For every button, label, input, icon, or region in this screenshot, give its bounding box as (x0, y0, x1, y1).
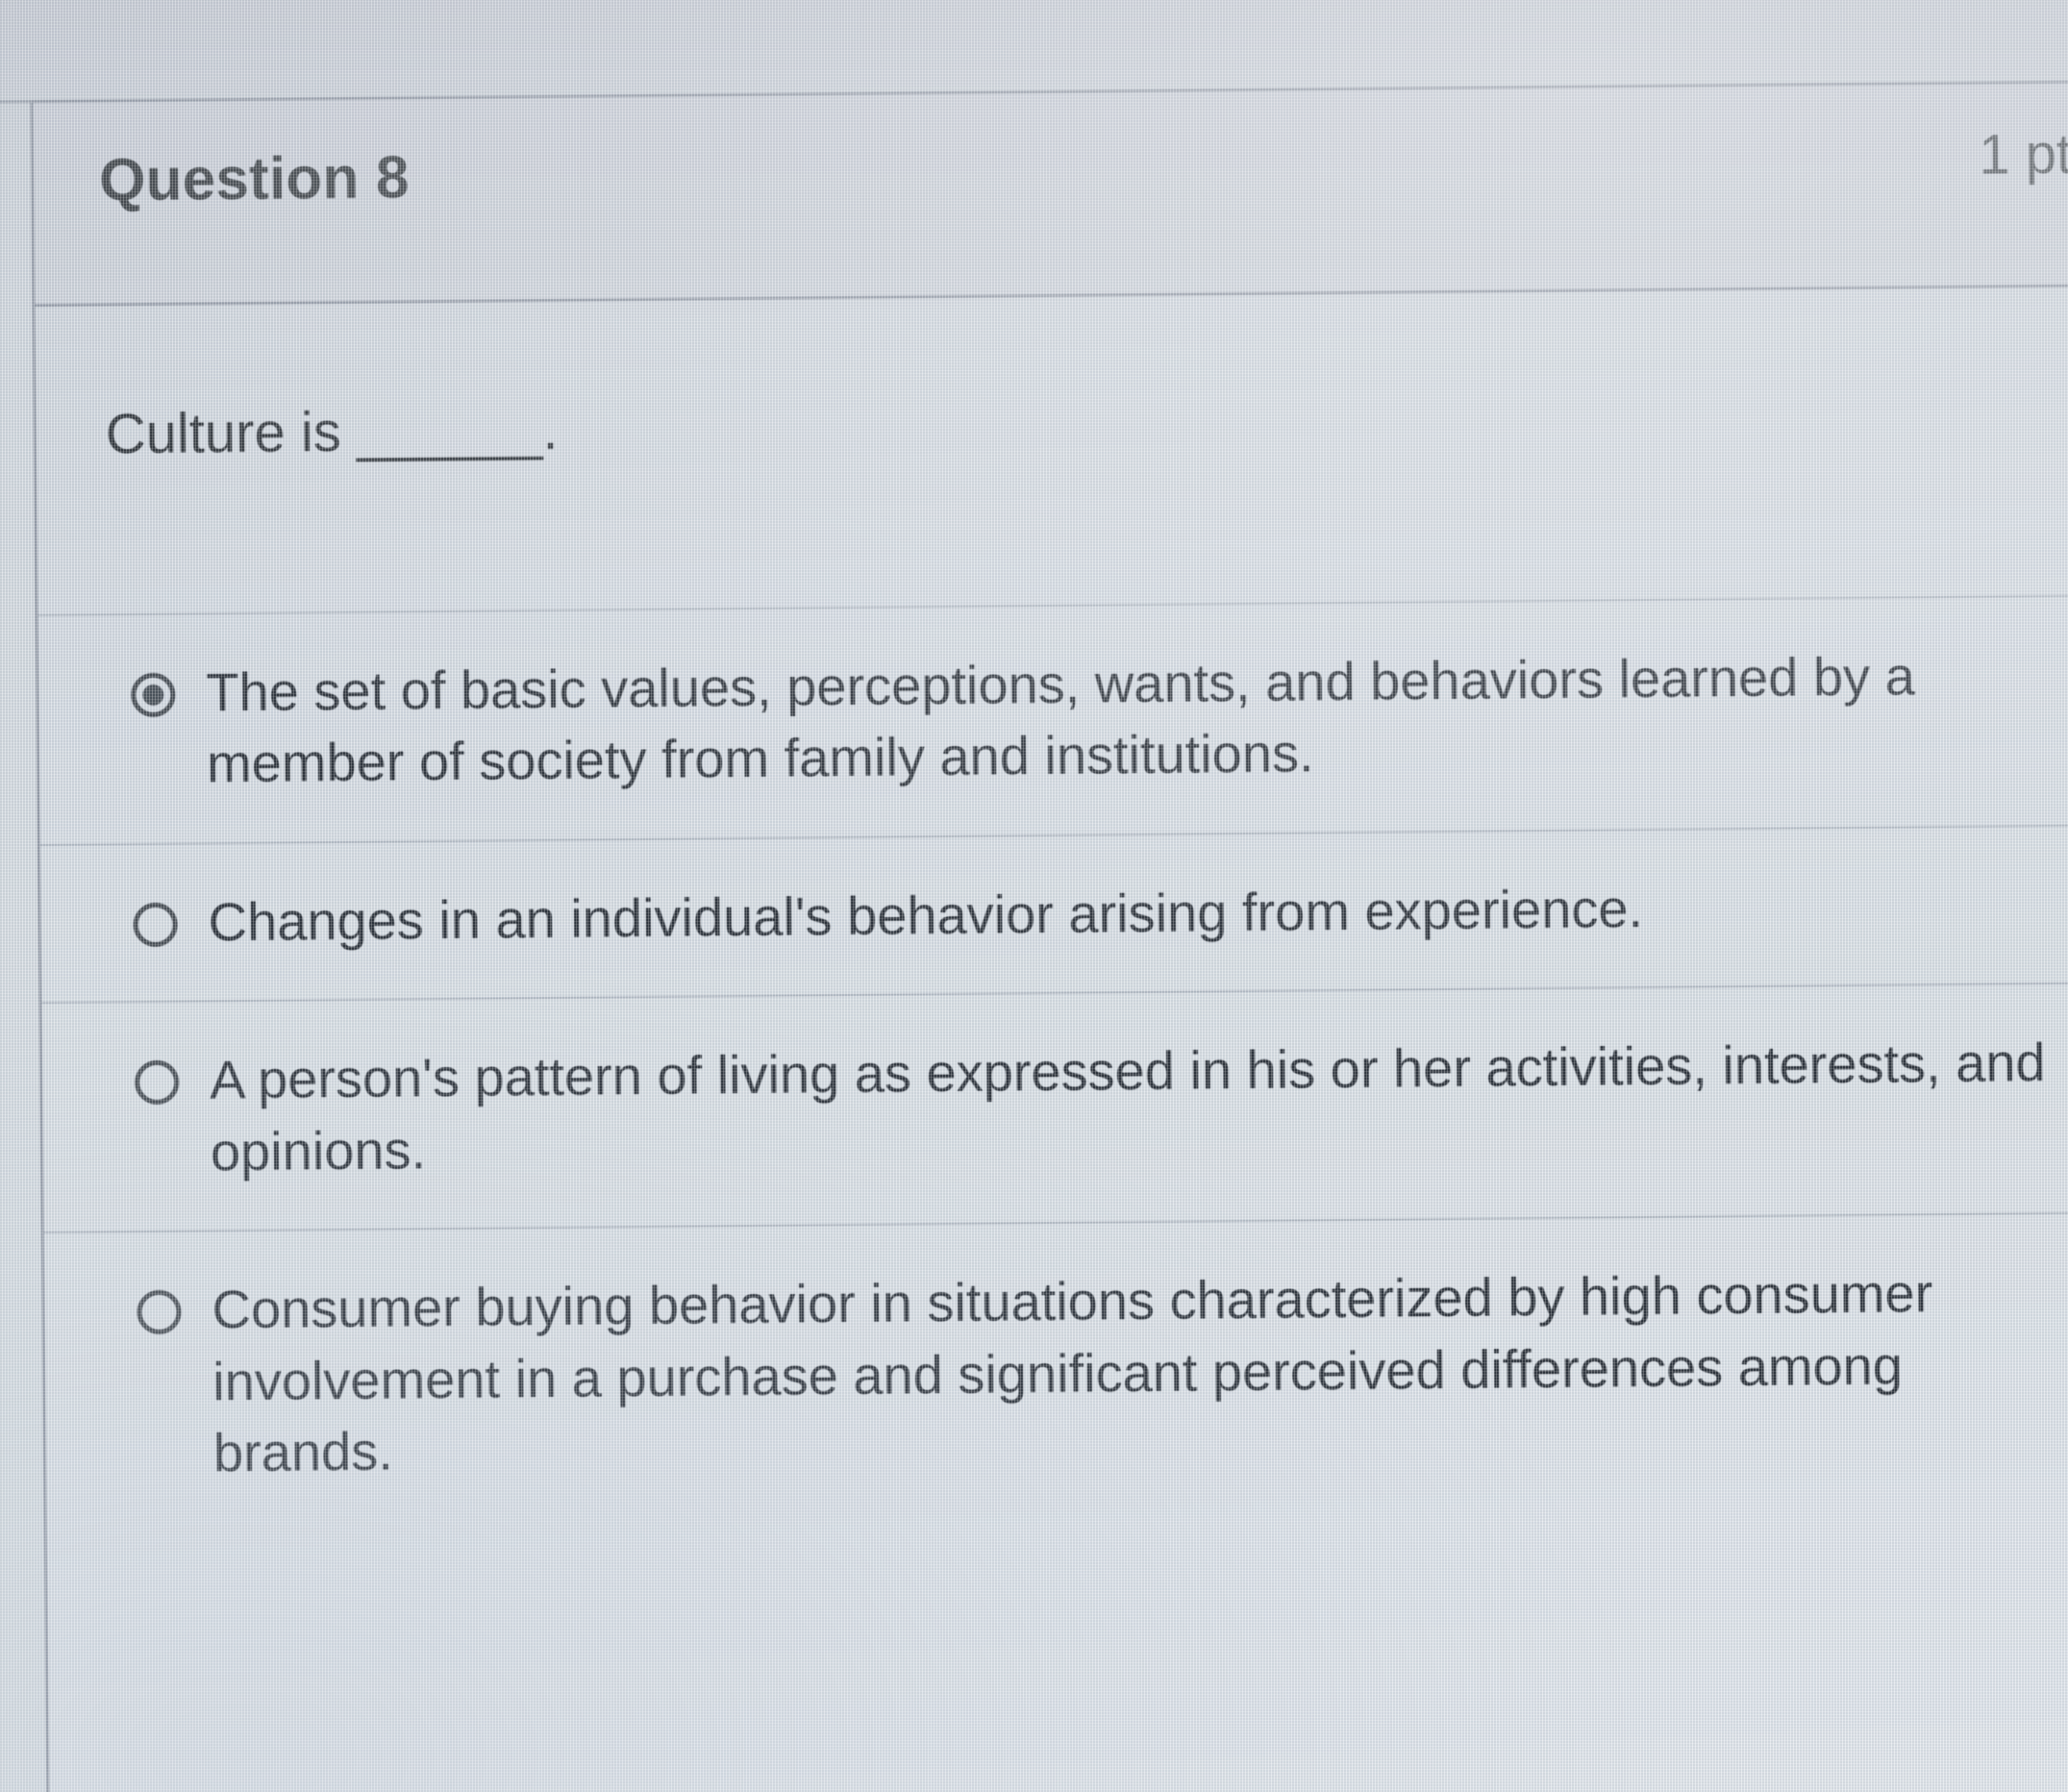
answer-options-list: The set of basic values, perceptions, wa… (38, 594, 2068, 1533)
radio-button-b-icon[interactable] (133, 903, 177, 947)
question-points-label: 1 pts (1979, 121, 2068, 187)
question-body: Culture is ______. The set of basic valu… (35, 286, 2068, 1792)
answer-option-b-label: Changes in an individual's behavior aris… (208, 873, 1643, 958)
photographed-screen: Question 8 1 pts Culture is ______. The … (0, 0, 2068, 1792)
radio-button-a-icon[interactable] (131, 673, 175, 717)
question-number-title: Question 8 (99, 143, 410, 214)
question-prompt-text: Culture is ______. (105, 398, 558, 467)
answer-option-d-label: Consumer buying behavior in situations c… (212, 1257, 2068, 1489)
radio-button-d-icon[interactable] (137, 1290, 181, 1334)
question-card: Question 8 1 pts Culture is ______. The … (30, 80, 2068, 1792)
answer-option-c-label: A person's pattern of living as expresse… (210, 1027, 2068, 1188)
browser-page: Question 8 1 pts Culture is ______. The … (0, 0, 2068, 1792)
answer-option-b[interactable]: Changes in an individual's behavior aris… (40, 824, 2068, 1003)
answer-option-a-label: The set of basic values, perceptions, wa… (206, 639, 2068, 801)
question-header: Question 8 1 pts (33, 80, 2068, 307)
answer-option-d[interactable]: Consumer buying behavior in situations c… (44, 1211, 2068, 1533)
answer-option-c[interactable]: A person's pattern of living as expresse… (41, 982, 2068, 1232)
answer-option-a[interactable]: The set of basic values, perceptions, wa… (38, 594, 2068, 844)
radio-button-c-icon[interactable] (135, 1060, 179, 1105)
